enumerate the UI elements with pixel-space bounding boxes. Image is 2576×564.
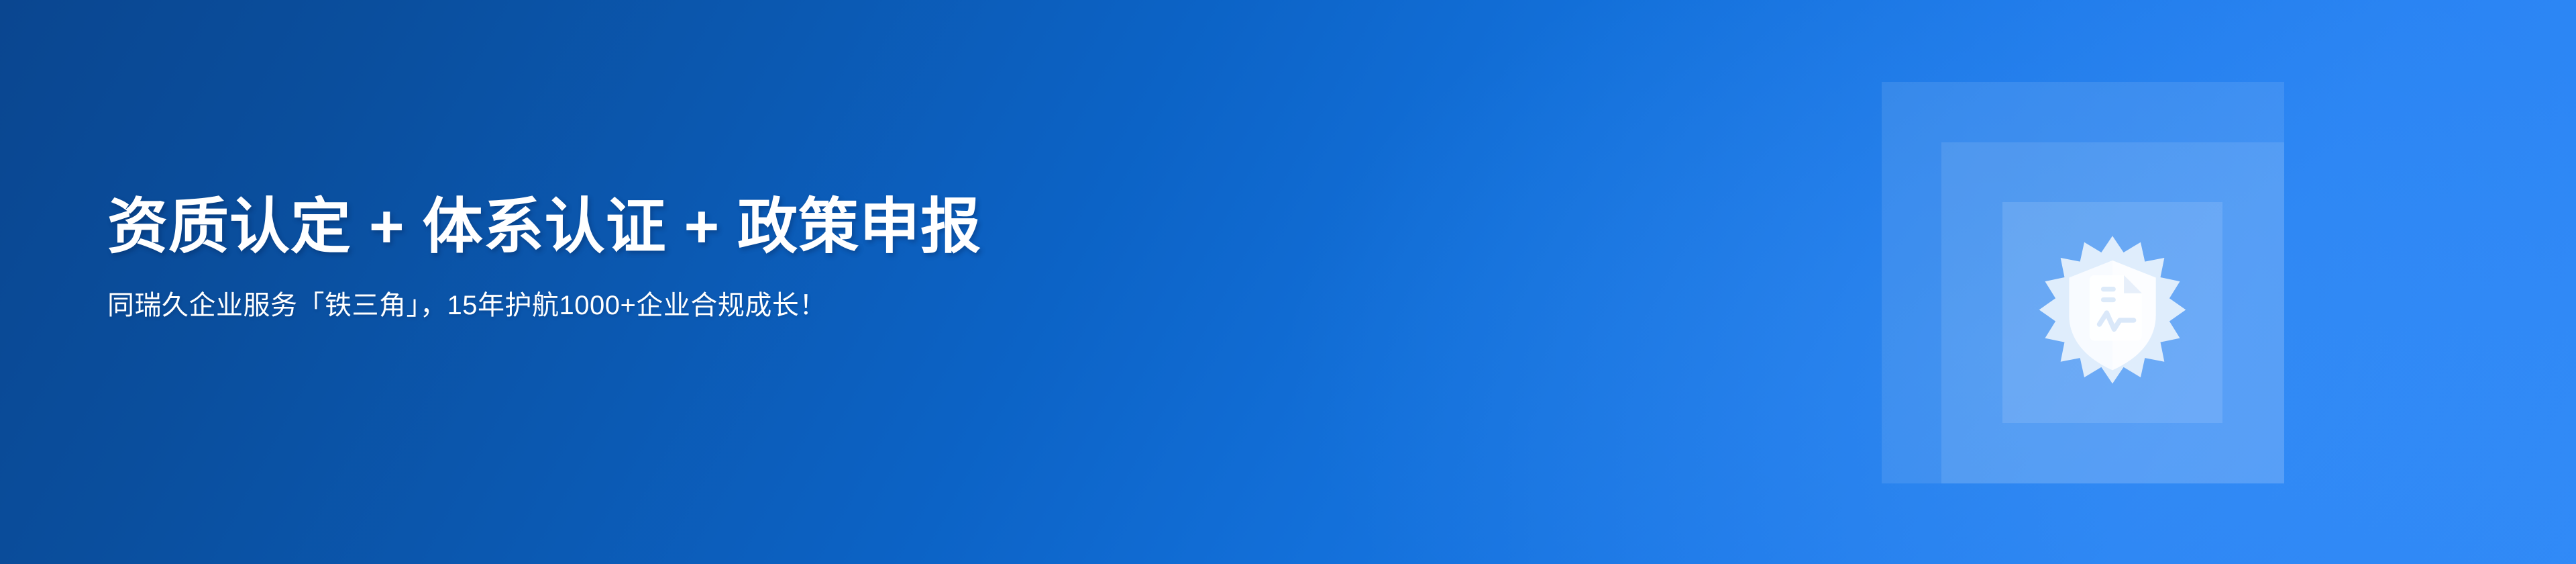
banner-decoration — [1882, 82, 2284, 483]
document-line-2 — [2101, 297, 2116, 302]
document-line-1 — [2101, 287, 2116, 291]
promo-banner: 资质认定 + 体系认证 + 政策申报 同瑞久企业服务「铁三角」，15年护航100… — [0, 0, 2576, 564]
banner-text-block: 资质认定 + 体系认证 + 政策申报 同瑞久企业服务「铁三角」，15年护航100… — [107, 191, 1717, 323]
certified-document-shield-seal-icon — [2031, 231, 2194, 395]
banner-headline: 资质认定 + 体系认证 + 政策申报 — [107, 191, 1717, 263]
banner-subheadline: 同瑞久企业服务「铁三角」，15年护航1000+企业合规成长！ — [107, 263, 1717, 323]
